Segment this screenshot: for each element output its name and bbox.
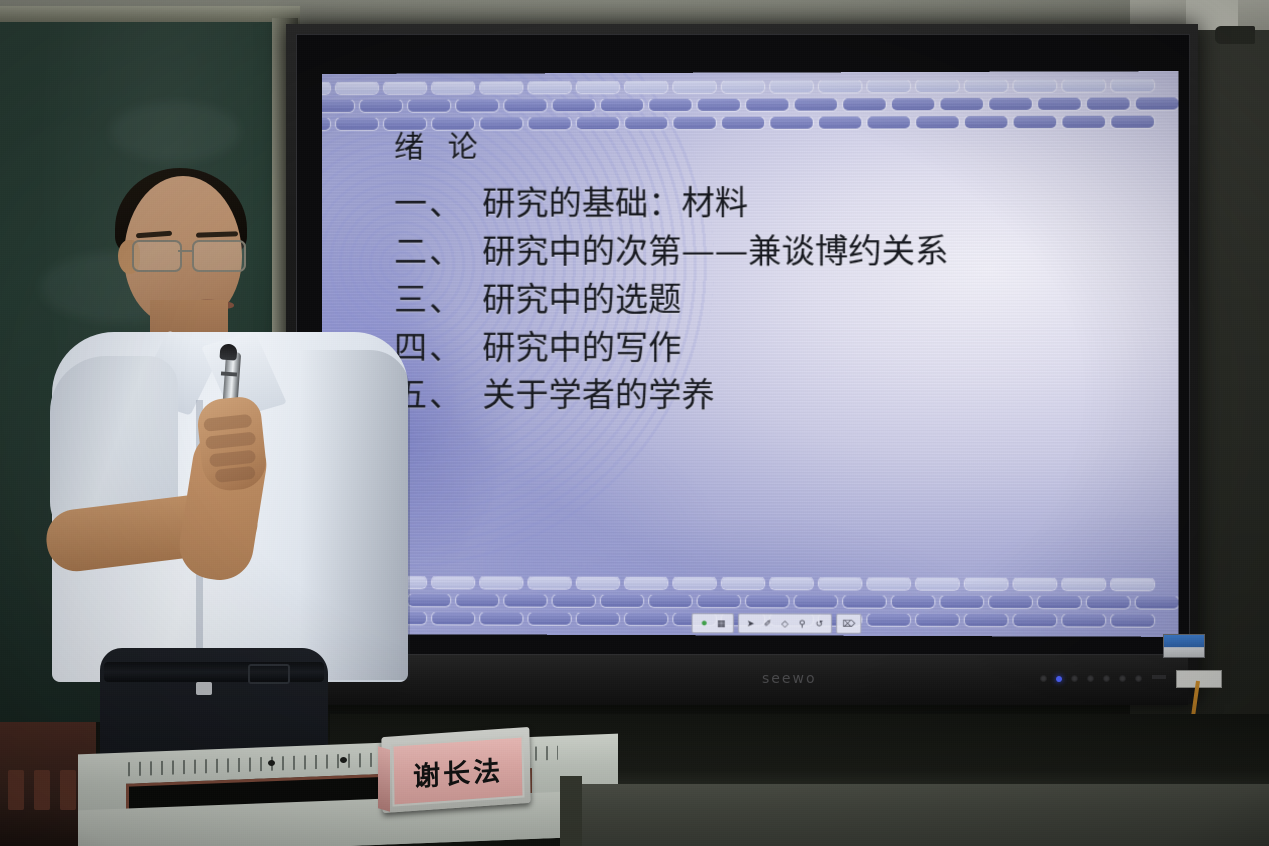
wood-slat — [60, 770, 76, 810]
finger — [205, 432, 256, 450]
presenter-glasses — [130, 240, 246, 270]
toolbar-utility-group[interactable]: ⌦ — [836, 614, 861, 634]
toolbar-annotation-group[interactable]: ➤ ✐ ◇ ⚲ ↺ — [738, 613, 832, 633]
belt-loop — [248, 664, 290, 684]
nameplate-text: 谢长法 — [413, 748, 504, 793]
trash-icon[interactable]: ⌦ — [841, 617, 856, 631]
slide-line-5: 五、关于学者的学养 — [394, 371, 1162, 419]
cursor-arrow-icon[interactable]: ➤ — [743, 616, 758, 630]
annotation-toolbar[interactable]: ● ▦ ➤ ✐ ◇ ⚲ ↺ ⌦ — [692, 613, 862, 634]
slide-text-block: 绪 论 一、研究的基础：材料 二、研究中的次第——兼谈博约关系 三、研究中的选题… — [394, 120, 1162, 420]
eraser-icon[interactable]: ◇ — [777, 616, 792, 630]
apps-grid-icon[interactable]: ▦ — [714, 616, 729, 630]
seewo-brand-logo: seewo — [762, 671, 817, 687]
desk-corner — [560, 776, 582, 846]
nameplate: 谢长法 — [391, 735, 524, 806]
brick-row — [322, 576, 1179, 594]
microphone-head — [219, 343, 237, 360]
home-green-icon[interactable]: ● — [697, 616, 712, 630]
magnifier-icon[interactable]: ⚲ — [795, 616, 810, 630]
slide-line-4-text: 研究中的写作 — [482, 327, 681, 366]
finger — [215, 466, 256, 483]
menu-button[interactable] — [1071, 675, 1078, 682]
slide-line-1: 一、研究的基础：材料 — [394, 178, 1162, 227]
channel-button[interactable] — [1135, 675, 1142, 682]
power-led-indicator — [1056, 676, 1062, 682]
lectern-screw — [340, 757, 347, 763]
display-bottom-bezel: seewo — [296, 654, 1188, 705]
slide-line-5-text: 关于学者的学养 — [482, 375, 714, 414]
pen-icon[interactable]: ✐ — [760, 616, 775, 630]
desk-front-panel — [560, 784, 1269, 846]
undo-icon[interactable]: ↺ — [812, 617, 827, 631]
glasses-lens-left — [132, 240, 182, 272]
brick-row — [322, 97, 1179, 115]
power-button[interactable] — [1040, 675, 1047, 682]
chalk-smudge — [110, 102, 240, 162]
slide-title: 绪 论 — [394, 120, 1162, 166]
glasses-lens-right — [192, 240, 246, 272]
finger — [203, 414, 252, 432]
wood-slat — [34, 770, 50, 810]
volume-down-button[interactable] — [1103, 675, 1110, 682]
slide-line-4: 四、研究中的写作 — [394, 323, 1162, 371]
lectern-screw — [268, 760, 275, 766]
brick-row — [322, 594, 1179, 612]
source-button[interactable] — [1087, 675, 1094, 682]
classroom-photo-scene: 绪 论 一、研究的基础：材料 二、研究中的次第——兼谈博约关系 三、研究中的选题… — [0, 0, 1269, 846]
slide-line-3: 三、研究中的选题 — [394, 275, 1162, 324]
slide-line-3-number: 三、 — [394, 280, 464, 319]
display-screen[interactable]: 绪 论 一、研究的基础：材料 二、研究中的次第——兼谈博约关系 三、研究中的选题… — [322, 71, 1179, 637]
display-hardware-buttons[interactable] — [1040, 675, 1142, 682]
slide-line-1-number: 一、 — [394, 184, 464, 223]
presenter-hand — [195, 395, 268, 493]
belt-buckle — [196, 682, 212, 695]
volume-up-button[interactable] — [1119, 675, 1126, 682]
slide-line-2: 二、研究中的次第——兼谈博约关系 — [394, 227, 1162, 276]
glasses-bridge — [178, 250, 192, 252]
wood-slat — [8, 770, 24, 810]
slide-line-4-number: 四、 — [394, 327, 464, 366]
ir-receiver — [1152, 675, 1166, 679]
slide-line-3-text: 研究中的选题 — [482, 279, 681, 318]
finger — [209, 450, 256, 468]
brick-row — [322, 79, 1179, 97]
slide-line-1-text: 研究的基础：材料 — [482, 183, 748, 223]
shirt-shading — [300, 350, 410, 680]
slide-line-2-number: 二、 — [394, 232, 464, 271]
product-badge-sticker — [1163, 634, 1205, 658]
nameplate-stand — [378, 746, 390, 811]
toolbar-system-group[interactable]: ● ▦ — [692, 613, 734, 633]
presenter-belt — [104, 662, 324, 682]
ceiling-mounted-object — [1215, 26, 1255, 44]
slide-line-2-text: 研究中的次第——兼谈博约关系 — [482, 231, 948, 271]
